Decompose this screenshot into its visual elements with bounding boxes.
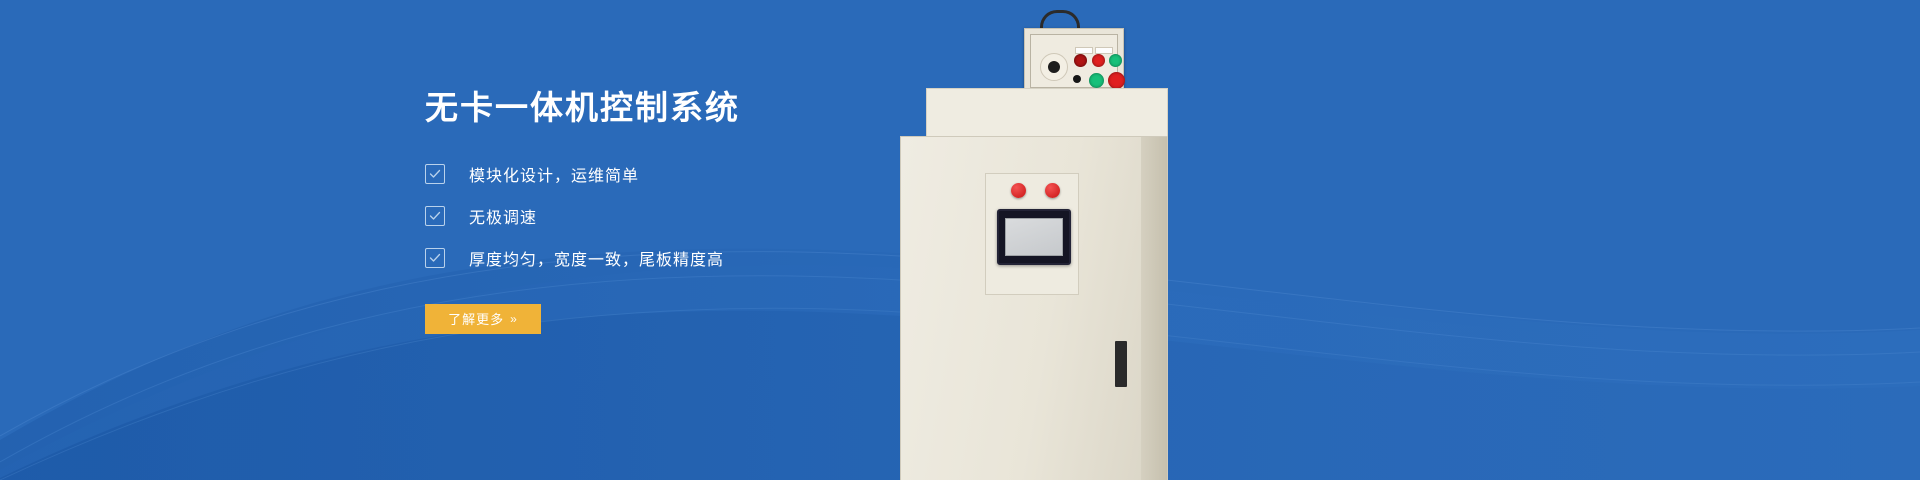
control-cabinet xyxy=(900,136,1168,480)
control-box-faceplate xyxy=(1030,34,1118,88)
indicator-lamp-black[interactable] xyxy=(1073,75,1081,83)
cabinet-side-edge xyxy=(1141,137,1167,480)
feature-label: 模块化设计，运维简单 xyxy=(469,162,639,186)
chevron-right-icon: » xyxy=(510,312,518,326)
indicator-lamp-red[interactable] xyxy=(1092,54,1105,67)
checkbox-checked-icon xyxy=(425,206,445,226)
cabinet-top-section xyxy=(926,88,1168,138)
product-image-alt: 无卡一体机控制柜 xyxy=(900,0,901,1)
hero-banner: 无卡一体机控制系统 模块化设计，运维简单 无极调速 xyxy=(0,0,1920,480)
hmi-screen[interactable] xyxy=(1005,218,1063,256)
learn-more-label: 了解更多 xyxy=(448,309,504,328)
checkbox-checked-icon xyxy=(425,164,445,184)
rotary-selector-knob-icon[interactable] xyxy=(1040,53,1068,81)
product-image: 无卡一体机控制柜 xyxy=(900,0,1300,480)
feature-label: 厚度均匀，宽度一致，尾板精度高 xyxy=(469,246,724,270)
checkbox-checked-icon xyxy=(425,248,445,268)
touchscreen-hmi[interactable] xyxy=(997,209,1071,265)
push-button-green[interactable] xyxy=(1089,73,1104,88)
push-button-red[interactable] xyxy=(1045,183,1060,198)
indicator-lamp-red[interactable] xyxy=(1074,54,1087,67)
push-button-red[interactable] xyxy=(1011,183,1026,198)
lamp-tag xyxy=(1075,47,1093,54)
control-box xyxy=(1024,28,1124,94)
push-button-red[interactable] xyxy=(1108,72,1125,89)
vent-slot-icon xyxy=(1115,341,1127,387)
learn-more-button[interactable]: 了解更多 » xyxy=(425,304,541,334)
feature-label: 无极调速 xyxy=(469,204,537,228)
lamp-tag xyxy=(1095,47,1113,54)
indicator-lamp-green[interactable] xyxy=(1109,54,1122,67)
